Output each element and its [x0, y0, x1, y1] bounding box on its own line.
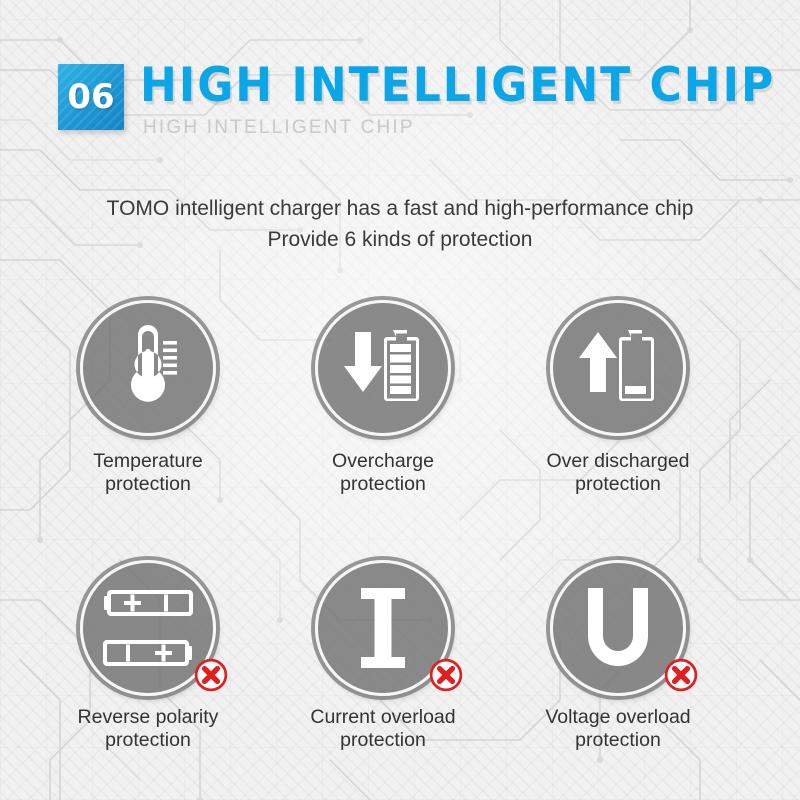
feature-row-top: Temperature protection	[0, 300, 800, 560]
feature-reverse-polarity-protection: Reverse polarity protection	[23, 560, 273, 752]
feature-label-line2: protection	[258, 729, 508, 752]
feature-temperature-protection: Temperature protection	[23, 300, 273, 496]
battery-overcharge-icon	[315, 300, 451, 436]
thermometer-icon	[80, 300, 216, 436]
feature-icon-wrap	[550, 560, 686, 696]
feature-label-line2: protection	[23, 729, 273, 752]
feature-label-line1: Overcharge	[332, 450, 434, 472]
forbidden-x-badge-icon	[194, 658, 228, 692]
description-line-2: Provide 6 kinds of protection	[0, 224, 800, 255]
feature-label-line1: Reverse polarity	[78, 706, 219, 728]
feature-caption: Voltage overload protection	[493, 706, 743, 752]
feature-label-line1: Current overload	[310, 706, 455, 728]
feature-icon-wrap	[315, 300, 451, 436]
feature-label-line2: protection	[23, 473, 273, 496]
battery-overdischarge-icon	[550, 300, 686, 436]
forbidden-x-badge-icon	[664, 658, 698, 692]
feature-caption: Overcharge protection	[258, 450, 508, 496]
feature-voltage-overload-protection: Voltage overload protection	[493, 560, 743, 752]
step-number: 06	[58, 64, 124, 130]
feature-label-line1: Over discharged	[546, 450, 689, 472]
forbidden-x-badge-icon	[429, 658, 463, 692]
feature-caption: Current overload protection	[258, 706, 508, 752]
feature-label-line2: protection	[258, 473, 508, 496]
feature-label-line1: Voltage overload	[545, 706, 690, 728]
feature-label-line1: Temperature	[93, 450, 202, 472]
feature-current-overload-protection: Current overload protection	[258, 560, 508, 752]
protection-features-grid: Temperature protection	[0, 300, 800, 800]
feature-icon-wrap	[80, 560, 216, 696]
feature-caption: Over discharged protection	[493, 450, 743, 496]
feature-icon-wrap	[80, 300, 216, 436]
infographic-page: 06 HIGH INTELLIGENT CHIP HIGH INTELLIGEN…	[0, 0, 800, 800]
feature-caption: Reverse polarity protection	[23, 706, 273, 752]
page-title: HIGH INTELLIGENT CHIP	[140, 58, 775, 113]
feature-icon-wrap	[315, 560, 451, 696]
page-subtitle: HIGH INTELLIGENT CHIP	[143, 117, 415, 139]
feature-overcharge-protection: Overcharge protection	[258, 300, 508, 496]
feature-label-line2: protection	[493, 473, 743, 496]
step-number-badge: 06	[58, 64, 124, 130]
description-line-1: TOMO intelligent charger has a fast and …	[0, 193, 800, 224]
feature-icon-wrap	[550, 300, 686, 436]
feature-caption: Temperature protection	[23, 450, 273, 496]
feature-row-bottom: Reverse polarity protection	[0, 560, 800, 800]
feature-over-discharged-protection: Over discharged protection	[493, 300, 743, 496]
feature-label-line2: protection	[493, 729, 743, 752]
header: 06 HIGH INTELLIGENT CHIP HIGH INTELLIGEN…	[0, 0, 800, 170]
description-block: TOMO intelligent charger has a fast and …	[0, 193, 800, 255]
